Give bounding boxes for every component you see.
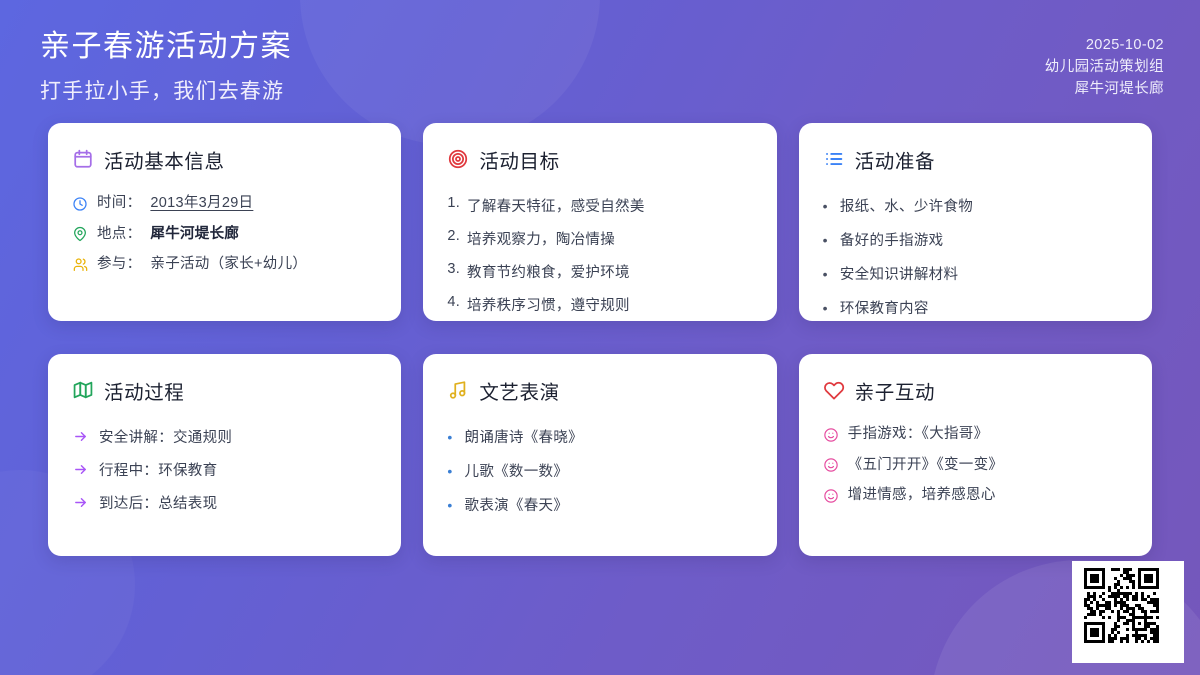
header-date: 2025-10-02	[1045, 34, 1164, 56]
header-location: 犀牛河堤长廊	[1045, 78, 1164, 100]
list-item-label: 儿歌《数一数》	[465, 460, 569, 481]
card-header: 活动基本信息	[72, 145, 377, 174]
page-subtitle: 打手拉小手，我们去春游	[40, 75, 292, 105]
poster-header: 亲子春游活动方案 打手拉小手，我们去春游 2025-10-02 幼儿园活动策划组…	[0, 0, 1200, 105]
list-item-number: 2.	[447, 228, 460, 249]
bullet-dot-icon: •	[447, 498, 452, 512]
list-item: 4.培养秩序习惯，遵守规则	[447, 288, 752, 321]
bullet-dot-icon: •	[823, 233, 828, 247]
list-item-number: 1.	[447, 195, 460, 216]
list-item-label: 行程中：环保教育	[99, 459, 217, 480]
card-body: 时间：2013年3月29日地点：犀牛河堤长廊参与：亲子活动（家长+幼儿）	[72, 189, 377, 281]
list-item: •儿歌《数一数》	[447, 454, 752, 488]
list-item: 2.培养观察力，陶冶情操	[447, 222, 752, 255]
card-title: 活动过程	[104, 376, 184, 405]
card-body: 1.了解春天特征，感受自然美2.培养观察力，陶冶情操3.教育节约粮食，爱护环境4…	[447, 189, 752, 321]
location-pin-icon	[72, 226, 88, 242]
card-body: 手指游戏：《大指哥》《五门开开》《变一变》增进情感，培养感恩心	[823, 420, 1128, 512]
info-row-value: 亲子活动（家长+幼儿）	[150, 255, 307, 275]
card-body: 安全讲解：交通规则行程中：环保教育到达后：总结表现	[72, 420, 377, 519]
card-grid: 活动基本信息时间：2013年3月29日地点：犀牛河堤长廊参与：亲子活动（家长+幼…	[0, 105, 1200, 556]
poster-canvas: 亲子春游活动方案 打手拉小手，我们去春游 2025-10-02 幼儿园活动策划组…	[0, 0, 1200, 675]
card-title: 活动基本信息	[104, 145, 225, 174]
list-item-label: 增进情感，培养感恩心	[848, 486, 996, 506]
list-item-label: 手指游戏：《大指哥》	[848, 425, 989, 445]
list-item-label: 《五门开开》《变一变》	[848, 456, 1004, 476]
card-arts-performance: 文艺表演•朗诵唐诗《春晓》•儿歌《数一数》•歌表演《春天》	[423, 354, 776, 556]
card-title: 活动目标	[479, 145, 559, 174]
card-header: 亲子互动	[823, 376, 1128, 405]
card-title: 亲子互动	[855, 376, 935, 405]
list-item-label: 安全讲解：交通规则	[99, 426, 232, 447]
list-item: 3.教育节约粮食，爱护环境	[447, 255, 752, 288]
heart-icon	[823, 379, 845, 401]
qr-code[interactable]	[1072, 561, 1184, 663]
list-item-label: 备好的手指游戏	[840, 229, 944, 250]
map-icon	[72, 379, 94, 401]
list-item-label: 环保教育内容	[840, 297, 929, 318]
list-item-label: 朗诵唐诗《春晓》	[465, 426, 583, 447]
header-title-block: 亲子春游活动方案 打手拉小手，我们去春游	[40, 28, 292, 105]
list-item: 手指游戏：《大指哥》	[823, 420, 1128, 451]
list-item: •报纸、水、少许食物	[823, 189, 1128, 223]
clock-icon	[72, 196, 88, 212]
info-row-value: 2013年3月29日	[150, 194, 253, 214]
arrow-right-icon	[72, 428, 88, 444]
list-item-label: 到达后：总结表现	[99, 492, 217, 513]
list-item-label: 培养观察力，陶冶情操	[467, 228, 615, 249]
list-item: •备好的手指游戏	[823, 223, 1128, 257]
list-item-label: 了解春天特征，感受自然美	[467, 195, 645, 216]
info-row-label: 时间：	[97, 194, 141, 214]
list-item-label: 报纸、水、少许食物	[840, 195, 973, 216]
bullet-dot-icon: •	[823, 301, 828, 315]
info-row-value: 犀牛河堤长廊	[150, 225, 239, 245]
card-parent-child-interaction: 亲子互动手指游戏：《大指哥》《五门开开》《变一变》增进情感，培养感恩心	[799, 354, 1152, 556]
list-icon	[823, 148, 845, 170]
info-row-label: 参与：	[97, 255, 141, 275]
list-item: 安全讲解：交通规则	[72, 420, 377, 453]
arrow-right-icon	[72, 494, 88, 510]
music-note-icon	[447, 379, 469, 401]
bullet-dot-icon: •	[823, 199, 828, 213]
list-item: 增进情感，培养感恩心	[823, 481, 1128, 512]
list-item: 到达后：总结表现	[72, 486, 377, 519]
smiley-icon	[823, 488, 839, 504]
list-item-label: 教育节约粮食，爱护环境	[467, 261, 630, 282]
list-item: 行程中：环保教育	[72, 453, 377, 486]
card-header: 活动准备	[823, 145, 1128, 174]
card-body: •报纸、水、少许食物•备好的手指游戏•安全知识讲解材料•环保教育内容	[823, 189, 1128, 321]
list-item-number: 3.	[447, 261, 460, 282]
info-row: 时间：2013年3月29日	[72, 189, 377, 220]
bullet-dot-icon: •	[447, 430, 452, 444]
list-item-label: 培养秩序习惯，遵守规则	[467, 294, 630, 315]
card-header: 活动过程	[72, 376, 377, 405]
bullet-dot-icon: •	[823, 267, 828, 281]
smiley-icon	[823, 427, 839, 443]
list-item: •朗诵唐诗《春晓》	[447, 420, 752, 454]
list-item: 1.了解春天特征，感受自然美	[447, 189, 752, 222]
list-item: 《五门开开》《变一变》	[823, 450, 1128, 481]
card-header: 文艺表演	[447, 376, 752, 405]
info-row-label: 地点：	[97, 225, 141, 245]
card-activity-preparation: 活动准备•报纸、水、少许食物•备好的手指游戏•安全知识讲解材料•环保教育内容	[799, 123, 1152, 321]
card-body: •朗诵唐诗《春晓》•儿歌《数一数》•歌表演《春天》	[447, 420, 752, 522]
users-icon	[72, 257, 88, 273]
qr-code-image	[1084, 568, 1172, 656]
list-item: •环保教育内容	[823, 291, 1128, 321]
info-row: 地点：犀牛河堤长廊	[72, 219, 377, 250]
card-header: 活动目标	[447, 145, 752, 174]
list-item-label: 安全知识讲解材料	[840, 263, 958, 284]
card-title: 文艺表演	[479, 376, 559, 405]
list-item: •安全知识讲解材料	[823, 257, 1128, 291]
list-item-number: 4.	[447, 294, 460, 315]
header-organization: 幼儿园活动策划组	[1045, 56, 1164, 78]
card-activity-basic-info: 活动基本信息时间：2013年3月29日地点：犀牛河堤长廊参与：亲子活动（家长+幼…	[48, 123, 401, 321]
page-title: 亲子春游活动方案	[40, 28, 292, 66]
list-item: •歌表演《春天》	[447, 488, 752, 522]
calendar-icon	[72, 148, 94, 170]
arrow-right-icon	[72, 461, 88, 477]
card-title: 活动准备	[855, 145, 935, 174]
bullet-dot-icon: •	[447, 464, 452, 478]
header-meta-block: 2025-10-02 幼儿园活动策划组 犀牛河堤长廊	[1045, 28, 1164, 100]
target-icon	[447, 148, 469, 170]
card-activity-goals: 活动目标1.了解春天特征，感受自然美2.培养观察力，陶冶情操3.教育节约粮食，爱…	[423, 123, 776, 321]
card-activity-process: 活动过程安全讲解：交通规则行程中：环保教育到达后：总结表现	[48, 354, 401, 556]
list-item-label: 歌表演《春天》	[465, 494, 569, 515]
info-row: 参与：亲子活动（家长+幼儿）	[72, 250, 377, 281]
smiley-icon	[823, 457, 839, 473]
